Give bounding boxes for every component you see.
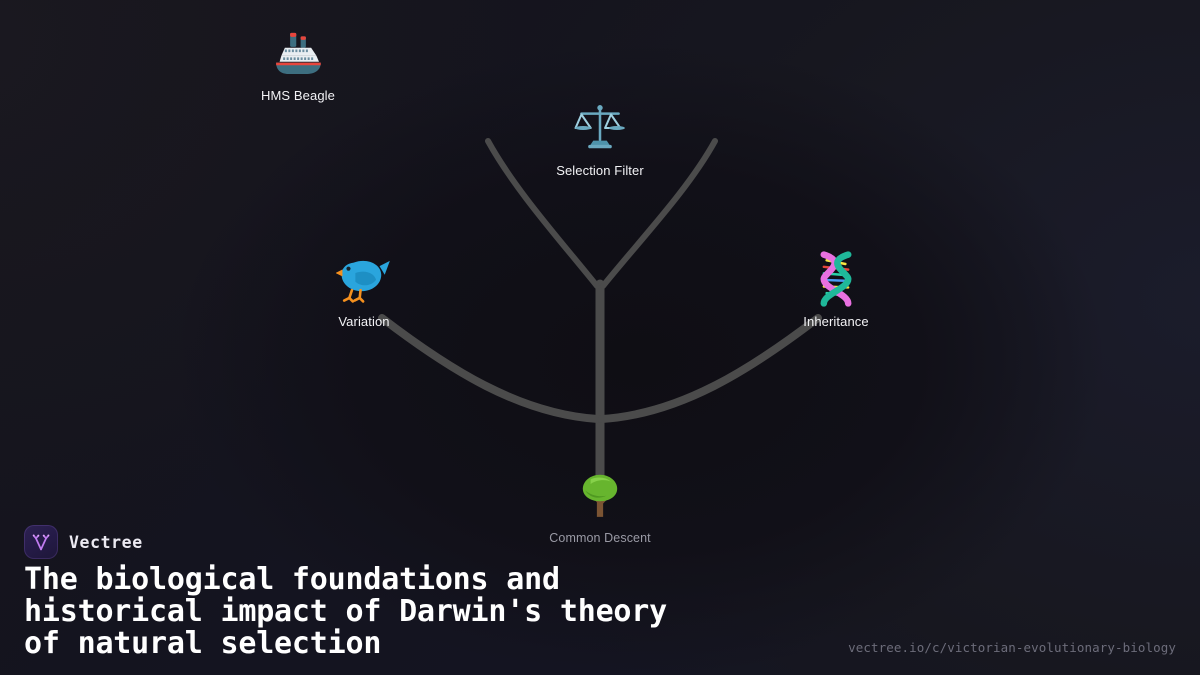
page-url: vectree.io/c/victorian-evolutionary-biol…	[848, 640, 1176, 655]
node-label: Selection Filter	[490, 163, 710, 179]
footer: Vectree The biological foundations and h…	[0, 515, 1200, 675]
node-hms-beagle[interactable]: HMS Beagle	[188, 22, 408, 104]
node-label: Inheritance	[726, 314, 946, 330]
brand-name: Vectree	[69, 533, 143, 552]
brand: Vectree	[24, 525, 143, 559]
node-label: HMS Beagle	[188, 88, 408, 104]
node-label: Variation	[254, 314, 474, 330]
node-selection-filter[interactable]: Selection Filter	[490, 97, 710, 179]
node-inheritance[interactable]: Inheritance	[726, 248, 946, 330]
dna-helix-icon	[726, 248, 946, 310]
visualization-canvas: HMS Beagle Selection Filter	[0, 0, 1200, 675]
edge-lower-right	[602, 318, 818, 419]
edge-lower-left	[382, 318, 598, 419]
page-title: The biological foundations and historica…	[24, 564, 854, 660]
vectree-logo-icon	[24, 525, 58, 559]
balance-scale-icon	[490, 97, 710, 159]
bird-icon	[254, 248, 474, 310]
node-variation[interactable]: Variation	[254, 248, 474, 330]
passenger-ship-icon	[188, 22, 408, 84]
